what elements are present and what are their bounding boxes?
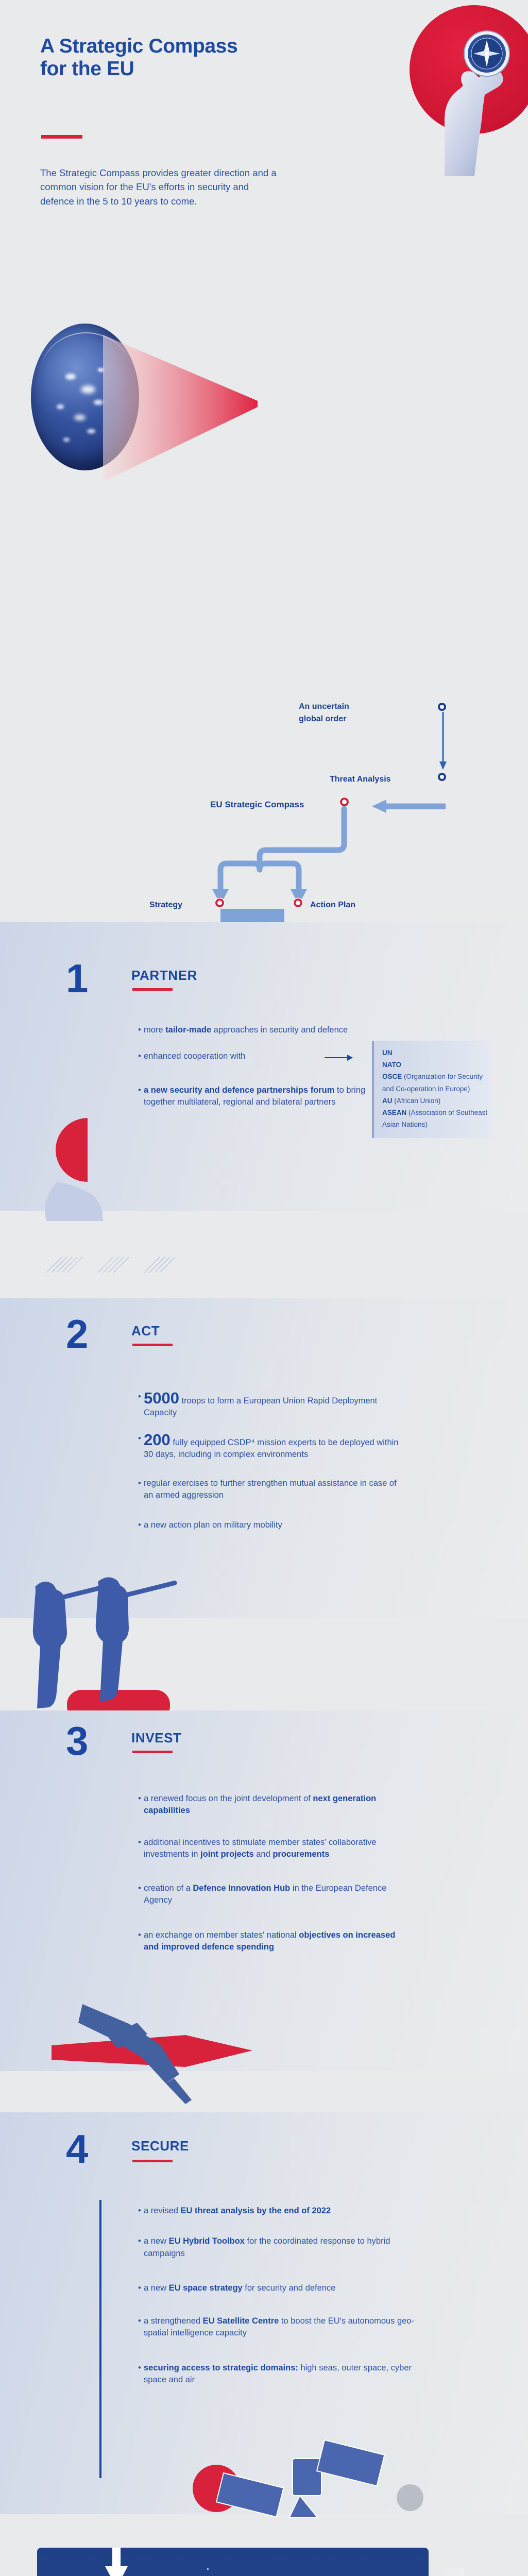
bullet-invest-1: a renewed focus on the joint development…	[138, 1793, 411, 1817]
shield-section: Geosynchronous earth orbit <36 000 km Hi…	[0, 2548, 528, 2576]
page-title-line2: for the EU	[40, 58, 287, 80]
bullet-secure-3: a new EU space strategy for security and…	[138, 2282, 416, 2294]
title-underline	[41, 135, 82, 139]
bullet-act-4: a new action plan on military mobility	[138, 1519, 406, 1531]
bullet-partner-3: a new security and defence partnerships …	[138, 1084, 380, 1109]
bullet-secure-5: securing access to strategic domains: hi…	[138, 2362, 416, 2386]
section-4-title: SECURE	[131, 2138, 189, 2154]
partner-organisations-list: UN NATO OSCE (Organization for Security …	[372, 1041, 490, 1138]
bullet-secure-2: a new EU Hybrid Toolbox for the coordina…	[138, 2235, 416, 2260]
security-shield: Geosynchronous earth orbit <36 000 km Hi…	[37, 2548, 429, 2576]
uncertain-order-node	[438, 703, 446, 711]
bullet-secure-1: a revised EU threat analysis by the end …	[138, 2205, 416, 2217]
org-item-nato: NATO	[382, 1059, 490, 1071]
section-1-title: PARTNER	[131, 968, 197, 984]
page-title: A Strategic Compass for the EU	[40, 35, 287, 80]
compass-in-hand-icon	[429, 22, 522, 176]
org-item-au: AU (African Union)	[382, 1095, 490, 1107]
flow-diagram: An uncertain global order Threat Analysi…	[0, 319, 528, 886]
act-troops-count: 5000	[144, 1389, 179, 1407]
bullet-act-2: 200 fully equipped CSDP⁴ mission experts…	[138, 1433, 406, 1461]
section-4-underline	[132, 2160, 173, 2162]
threat-beam	[103, 335, 268, 489]
red-half-circle-and-hands-decoration	[26, 1118, 144, 1231]
section-2-bullets: 5000 troops to form a European Union Rap…	[138, 1391, 406, 1543]
section-1-bullets: more tailor-made approaches in security …	[138, 1024, 380, 1120]
section-3-title: INVEST	[131, 1730, 182, 1746]
bullet-invest-4: an exchange on member states' national o…	[138, 1929, 411, 1954]
threat-analysis-node	[438, 773, 446, 781]
section-2-number: 2	[66, 1318, 88, 1350]
section-2-underline	[132, 1344, 173, 1346]
org-item-asean: ASEAN (Association of Southeast Asian Na…	[382, 1107, 490, 1130]
infographic-page: A Strategic Compass for the EU The Strat…	[0, 0, 528, 2576]
arrow-left-to-compass	[361, 799, 448, 814]
section-3-number: 3	[66, 1725, 88, 1757]
bullet-act-1: 5000 troops to form a European Union Rap…	[138, 1391, 406, 1419]
header: A Strategic Compass for the EU The Strat…	[0, 0, 528, 319]
secure-vertical-rule	[99, 2200, 101, 2478]
section-1-number: 1	[66, 962, 88, 994]
section-3-underline	[132, 1751, 173, 1753]
bullet-act-3: regular exercises to further strengthen …	[138, 1478, 406, 1502]
section-4-bullets: a revised EU threat analysis by the end …	[138, 2205, 416, 2397]
arrow-down-to-threat	[439, 712, 447, 771]
org-item-un: UN	[382, 1047, 490, 1059]
section-3-bullets: a renewed focus on the joint development…	[138, 1793, 411, 1964]
page-title-line1: A Strategic Compass	[40, 35, 287, 58]
arrow-right-icon	[325, 1057, 352, 1058]
intro-paragraph: The Strategic Compass provides greater d…	[40, 166, 277, 208]
section-4-number: 4	[66, 2133, 88, 2165]
satellite-decoration	[170, 2411, 458, 2561]
org-item-osce: OSCE (Organization for Security and Co-o…	[382, 1071, 490, 1094]
bullet-invest-3: creation of a Defence Innovation Hub in …	[138, 1883, 411, 1907]
orbit-arcs	[37, 2548, 429, 2576]
threat-analysis-label: Threat Analysis	[330, 775, 391, 784]
bullet-secure-4: a strengthened EU Satellite Centre to bo…	[138, 2315, 416, 2340]
white-down-arrow-icon	[101, 2548, 132, 2576]
fighter-jet-decoration	[31, 1973, 319, 2117]
bullet-partner-1: more tailor-made approaches in security …	[138, 1024, 380, 1036]
section-1-underline	[132, 988, 173, 991]
act-experts-count: 200	[144, 1431, 171, 1449]
section-2-title: ACT	[131, 1323, 160, 1339]
hatched-pattern-decoration	[41, 1252, 196, 1293]
uncertain-global-order-label: An uncertain global order	[299, 701, 349, 725]
bullet-invest-2: additional incentives to stimulate membe…	[138, 1837, 411, 1861]
